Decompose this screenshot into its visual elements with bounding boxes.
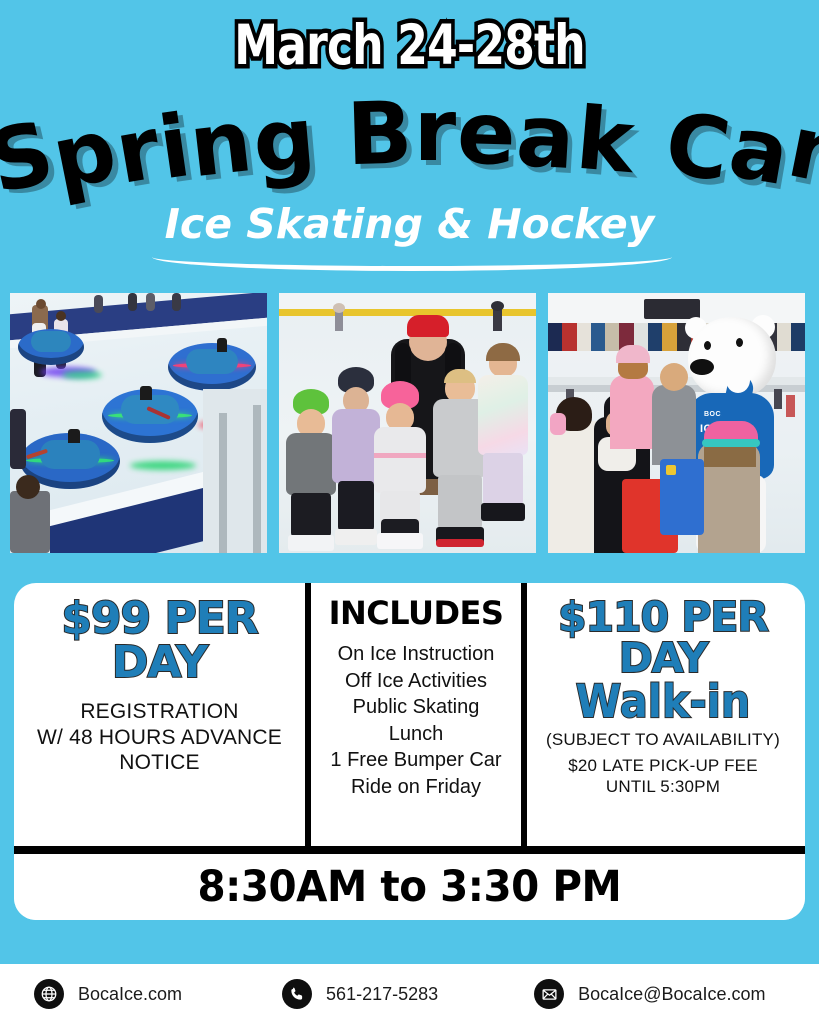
card-divider xyxy=(14,846,805,854)
includes-heading: INCLUDES xyxy=(321,597,511,629)
photo-mascot: BOCA ICE xyxy=(548,293,805,553)
pricing-columns: $99 PER DAY REGISTRATION W/ 48 HOURS ADV… xyxy=(14,583,805,846)
registration-note-line-1: REGISTRATION xyxy=(24,699,295,725)
price-column-right: $110 PER DAY Walk-in (SUBJECT TO AVAILAB… xyxy=(527,583,799,846)
flyer-title-arched-text: Spring Break Camp xyxy=(0,88,819,174)
spring-break-camp-flyer: March 24-28th Spring Break Camp Ice Skat… xyxy=(0,0,819,1024)
flyer-subtitle: Ice Skating & Hockey xyxy=(0,204,819,245)
availability-note: (SUBJECT TO AVAILABILITY) xyxy=(537,730,789,750)
title-char xyxy=(313,94,348,182)
contact-phone[interactable]: 561-217-5283 xyxy=(282,979,438,1009)
late-fee-note: $20 LATE PICK-UP FEE UNTIL 5:30PM xyxy=(537,756,789,797)
late-fee-line-1: $20 LATE PICK-UP FEE xyxy=(537,756,789,776)
late-fee-line-2: UNTIL 5:30PM xyxy=(537,777,789,797)
flyer-title: Spring Break Camp xyxy=(0,88,819,198)
price-110-line2: DAY xyxy=(537,638,789,679)
email-icon xyxy=(534,979,564,1009)
title-char: k xyxy=(573,96,637,187)
contact-email[interactable]: BocaIce@BocaIce.com xyxy=(534,979,765,1009)
contact-footer: BocaIce.com 561-217-5283 BocaIce@BocaIce… xyxy=(0,964,819,1024)
phone-text: 561-217-5283 xyxy=(326,984,438,1005)
title-char: n xyxy=(186,98,257,190)
price-99-line2: DAY xyxy=(24,641,295,685)
walk-in-label: Walk-in xyxy=(547,679,779,724)
camp-hours: 8:30AM to 3:30 PM xyxy=(198,862,622,912)
photo-strip: BOCA ICE xyxy=(10,293,809,553)
subtitle-underline xyxy=(152,257,672,271)
title-char: C xyxy=(660,101,735,195)
title-char: r xyxy=(414,88,456,174)
price-column-left: $99 PER DAY REGISTRATION W/ 48 HOURS ADV… xyxy=(14,583,305,846)
list-item: 1 Free Bumper Car xyxy=(321,747,511,774)
globe-icon xyxy=(34,979,64,1009)
phone-icon xyxy=(282,979,312,1009)
list-item: On Ice Instruction xyxy=(321,641,511,668)
schedule-bar: 8:30AM to 3:30 PM xyxy=(14,854,805,920)
list-item: Public Skating xyxy=(321,694,511,721)
title-char: g xyxy=(249,95,318,186)
flyer-header: March 24-28th Spring Break Camp Ice Skat… xyxy=(0,0,819,285)
email-text: BocaIce@BocaIce.com xyxy=(578,984,765,1005)
info-card: $99 PER DAY REGISTRATION W/ 48 HOURS ADV… xyxy=(14,583,805,920)
photo-bumper-cars xyxy=(10,293,267,553)
price-99-line1: $99 PER xyxy=(24,597,295,641)
photo-skating-group xyxy=(279,293,536,553)
list-item: Lunch xyxy=(321,721,511,748)
title-char: B xyxy=(346,90,414,178)
registration-note: REGISTRATION W/ 48 HOURS ADVANCE NOTICE xyxy=(24,699,295,776)
title-char: e xyxy=(456,90,517,178)
website-text: BocaIce.com xyxy=(78,984,182,1005)
includes-column: INCLUDES On Ice Instruction Off Ice Acti… xyxy=(305,583,527,846)
camp-date: March 24-28th xyxy=(82,18,737,73)
registration-note-line-2: W/ 48 HOURS ADVANCE xyxy=(24,725,295,751)
title-char: a xyxy=(515,93,578,182)
contact-website[interactable]: BocaIce.com xyxy=(34,979,182,1009)
registration-note-line-3: NOTICE xyxy=(24,750,295,776)
includes-list: On Ice Instruction Off Ice Activities Pu… xyxy=(321,641,511,801)
list-item: Off Ice Activities xyxy=(321,668,511,695)
price-110-line1: $110 PER xyxy=(537,597,789,638)
list-item: Ride on Friday xyxy=(321,774,511,801)
